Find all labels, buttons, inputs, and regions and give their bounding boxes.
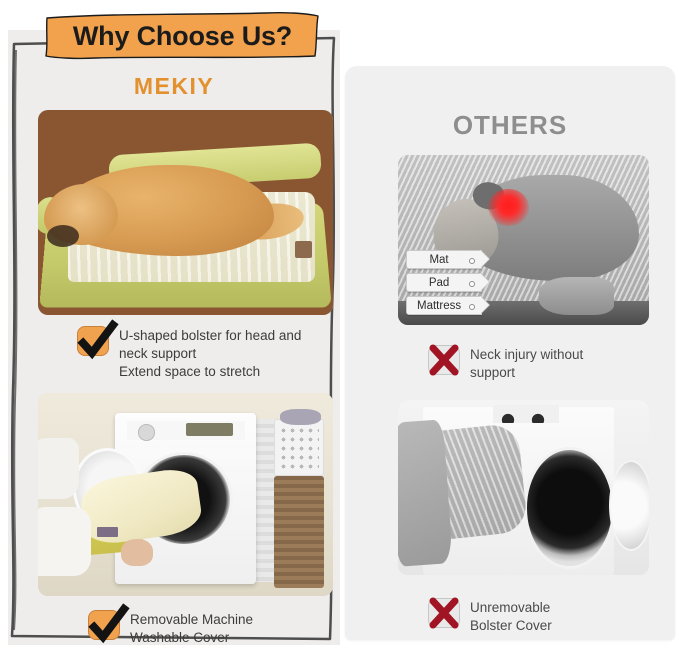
neck-injury-marker-icon — [488, 189, 528, 226]
washing-machine-drum — [524, 447, 615, 569]
feature-text: Neck injury without support — [470, 345, 583, 382]
wicker-basket — [274, 476, 324, 588]
photo-content — [38, 110, 333, 315]
feature-u-shaped-bolster: U-shaped bolster for head and neck suppo… — [77, 326, 327, 381]
photo-content — [398, 400, 649, 575]
layer-tag-list: Mat Pad Mattress — [406, 250, 482, 315]
hand-shape — [121, 539, 153, 565]
grayscale-dog-with-neck-injury-photo: Mat Pad Mattress — [398, 155, 649, 325]
arm-lower-shape — [38, 507, 91, 576]
feature-line: Washable Cover — [130, 629, 253, 647]
feature-removable-washable-cover: Removable Machine Washable Cover — [88, 610, 328, 647]
layer-tag-dot-icon — [469, 281, 475, 287]
layer-tag-label: Mat — [429, 254, 448, 266]
grayscale-unremovable-cover-photo — [398, 400, 649, 575]
others-panel-title: OTHERS — [345, 110, 675, 141]
feature-text: Removable Machine Washable Cover — [130, 610, 253, 647]
arm-upper-shape — [38, 438, 79, 499]
layer-tag-dot-icon — [469, 304, 475, 310]
feature-line: Bolster Cover — [470, 617, 552, 635]
brand-tag — [295, 241, 313, 257]
feature-line: Extend space to stretch — [119, 363, 301, 381]
washing-machine-door — [609, 460, 649, 552]
layer-tag-label: Mattress — [417, 300, 461, 312]
feature-neck-injury: Neck injury without support — [428, 345, 648, 382]
washing-machine-knobs — [493, 405, 558, 423]
washing-machine-display — [186, 423, 233, 435]
feature-line: Neck injury without — [470, 346, 583, 364]
feature-line: neck support — [119, 345, 301, 363]
golden-retriever-on-bolster-bed-photo — [38, 110, 333, 315]
banner-title: Why Choose Us? — [44, 12, 321, 60]
layer-tag-label: Pad — [429, 277, 449, 289]
feature-line: U-shaped bolster for head and — [119, 327, 301, 345]
white-laundry-basket — [274, 419, 324, 476]
feature-line: support — [470, 364, 583, 382]
feature-unremovable-cover: Unremovable Bolster Cover — [428, 598, 648, 635]
layer-tag-mat: Mat — [406, 250, 482, 269]
photo-content — [38, 393, 333, 596]
why-choose-us-banner: Why Choose Us? — [44, 12, 321, 60]
feature-text: U-shaped bolster for head and neck suppo… — [119, 326, 301, 381]
washing-machine-knob — [138, 424, 155, 440]
brand-title: MEKIY — [8, 73, 340, 100]
layer-tag-mattress: Mattress — [406, 296, 482, 315]
x-icon — [428, 598, 460, 628]
feature-text: Unremovable Bolster Cover — [470, 598, 552, 635]
feature-line: Unremovable — [470, 599, 552, 617]
dog-leg-shape — [539, 277, 614, 314]
check-icon — [88, 610, 120, 640]
layer-tag-pad: Pad — [406, 273, 482, 292]
cover-brand-label — [97, 527, 118, 537]
feature-line: Removable Machine — [130, 611, 253, 629]
machine-washing-cover-photo — [38, 393, 333, 596]
laundry-cloth — [280, 409, 321, 425]
basket-perforation — [279, 426, 319, 469]
x-icon — [428, 345, 460, 375]
check-icon — [77, 326, 109, 356]
layer-tag-dot-icon — [469, 258, 475, 264]
